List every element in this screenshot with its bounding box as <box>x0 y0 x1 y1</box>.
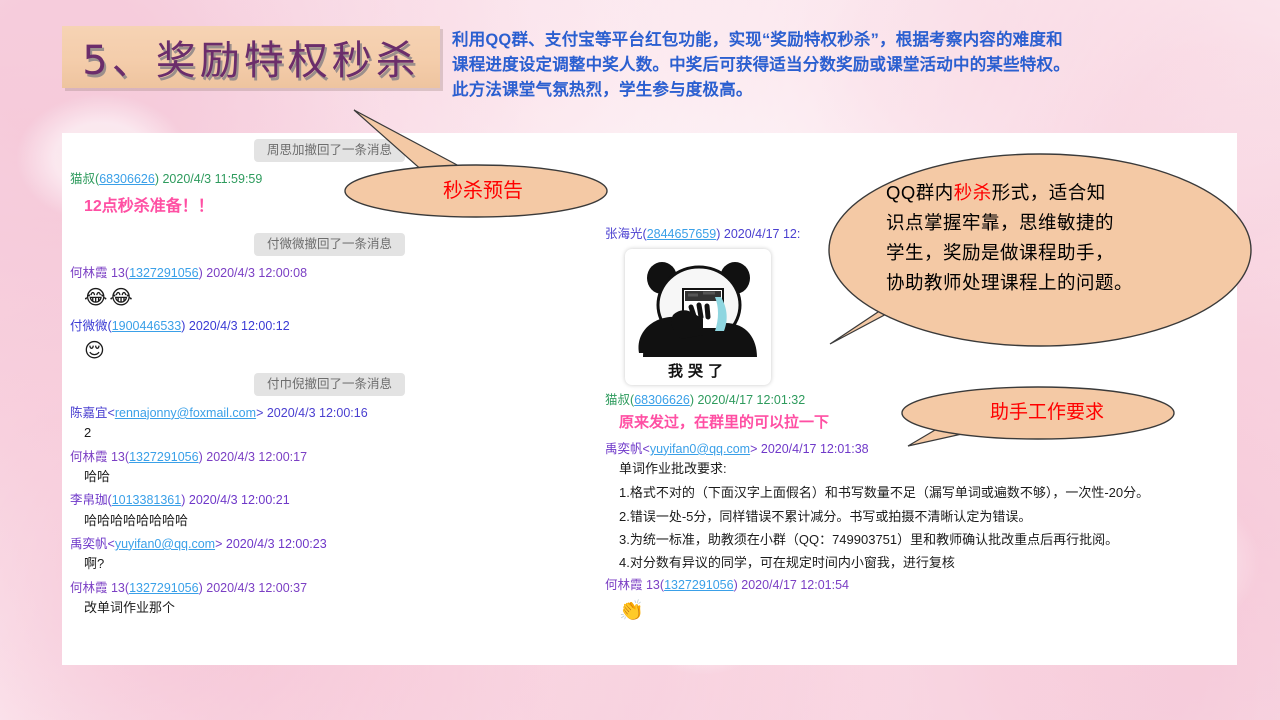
message-body: 啊? <box>62 553 597 576</box>
message-body: 哈哈 <box>62 466 597 489</box>
sender-name: 禹奕帆 <box>605 442 643 456</box>
sender-name: 禹奕帆 <box>70 537 108 551</box>
sender-name: 何林霞 13 <box>70 450 125 464</box>
bracket-close: ) <box>199 266 203 280</box>
message-header: 何林霞 13(1327291056) 2020/4/17 12:01:54 <box>597 575 1237 595</box>
bracket-close: ) <box>734 578 738 592</box>
message-body: 单词作业批改要求: <box>597 458 1237 481</box>
chat-message: 陈嘉宜<rennajonny@foxmail.com> 2020/4/3 12:… <box>62 402 597 446</box>
bracket-close: ) <box>690 393 694 407</box>
message-header: 何林霞 13(1327291056) 2020/4/3 12:00:17 <box>62 447 597 467</box>
sender-name: 付微微 <box>70 319 108 333</box>
callout-highlight: 秒杀 <box>954 182 992 203</box>
bracket-open: < <box>108 406 115 420</box>
message-time: 2020/4/3 12:00:16 <box>267 406 368 420</box>
callout-seckill-preview: 秒杀预告 <box>342 160 610 222</box>
message-time: 2020/4/3 12:00:23 <box>226 537 327 551</box>
sender-id[interactable]: 1327291056 <box>129 450 199 464</box>
system-message: 周思加撤回了一条消息 <box>62 139 597 162</box>
sender-name: 何林霞 13 <box>70 581 125 595</box>
chat-message: 何林霞 13(1327291056) 2020/4/3 12:00:37 改单词… <box>62 577 597 621</box>
header-line-3: 此方法课堂气氛热烈，学生参与度极高。 <box>452 78 1252 103</box>
message-header: 禹奕帆<yuyifan0@qq.com> 2020/4/3 12:00:23 <box>62 534 597 554</box>
requirement-item: 3.为统一标准，助教须在小群（QQ：749903751）里和教师确认批改重点后再… <box>597 528 1237 551</box>
message-time: 2020/4/3 12:00:37 <box>206 581 307 595</box>
sender-id[interactable]: 2844657659 <box>647 227 717 241</box>
bracket-close: > <box>256 406 263 420</box>
message-time: 2020/4/17 12: <box>724 227 800 241</box>
chat-message: 何林霞 13(1327291056) 2020/4/3 12:00:08 😂😂 <box>62 262 597 315</box>
header-description: 利用QQ群、支付宝等平台红包功能，实现“奖励特权秒杀”，根据考察内容的难度和 课… <box>452 28 1252 103</box>
bracket-close: > <box>215 537 222 551</box>
sender-id[interactable]: 1327291056 <box>129 581 199 595</box>
sender-name: 猫叔 <box>70 172 95 186</box>
message-body-emoji: 👏 <box>597 595 1237 627</box>
chat-message: 禹奕帆<yuyifan0@qq.com> 2020/4/17 12:01:38 … <box>597 438 1237 574</box>
chat-message: 何林霞 13(1327291056) 2020/4/3 12:00:17 哈哈 <box>62 446 597 490</box>
requirement-item: 1.格式不对的（下面汉字上面假名）和书写数量不足（漏写单词或遍数不够），一次性-… <box>597 481 1237 504</box>
message-time: 2020/4/3 11:59:59 <box>162 172 262 186</box>
crying-panda-icon <box>629 253 767 361</box>
message-body-emoji: 😌 <box>62 335 597 367</box>
sender-name: 张海光 <box>605 227 643 241</box>
sender-id[interactable]: 68306626 <box>99 172 155 186</box>
callout-line-3: 学生，奖励是做课程助手， <box>886 238 1216 268</box>
system-message: 付微微撤回了一条消息 <box>62 233 597 256</box>
system-message-text: 付巾倪撤回了一条消息 <box>254 373 405 396</box>
chat-message: 李帛珈(1013381361) 2020/4/3 12:00:21 哈哈哈哈哈哈… <box>62 489 597 533</box>
bracket-close: ) <box>155 172 159 186</box>
sender-id[interactable]: 68306626 <box>634 393 690 407</box>
bracket-close: ) <box>199 581 203 595</box>
system-message-text: 周思加撤回了一条消息 <box>254 139 405 162</box>
callout-assistant-requirements: 助手工作要求 <box>900 384 1180 446</box>
callout-text-a: QQ群内 <box>886 182 954 203</box>
message-header: 李帛珈(1013381361) 2020/4/3 12:00:21 <box>62 490 597 510</box>
bracket-close: > <box>750 442 757 456</box>
sender-id[interactable]: 1013381361 <box>112 493 182 507</box>
callout-line-2: 识点掌握牢靠，思维敏捷的 <box>886 208 1216 238</box>
sender-id[interactable]: 1900446533 <box>112 319 182 333</box>
bracket-open: < <box>643 442 650 456</box>
panda-sticker[interactable]: 我哭了 <box>625 249 771 385</box>
message-body: 2 <box>62 422 597 445</box>
message-time: 2020/4/17 12:01:54 <box>741 578 849 592</box>
message-header: 何林霞 13(1327291056) 2020/4/3 12:00:08 <box>62 263 597 283</box>
sender-name: 猫叔 <box>605 393 630 407</box>
message-header: 陈嘉宜<rennajonny@foxmail.com> 2020/4/3 12:… <box>62 403 597 423</box>
system-message: 付巾倪撤回了一条消息 <box>62 373 597 396</box>
message-time: 2020/4/3 12:00:12 <box>189 319 290 333</box>
sender-email[interactable]: yuyifan0@qq.com <box>115 537 215 551</box>
message-body: 改单词作业那个 <box>62 597 597 620</box>
callout-line-4: 协助教师处理课程上的问题。 <box>886 268 1216 298</box>
sender-id[interactable]: 1327291056 <box>129 266 199 280</box>
message-body-emoji: 😂😂 <box>62 282 597 314</box>
callout-line-1: QQ群内秒杀形式，适合知 <box>886 178 1216 208</box>
message-time: 2020/4/3 12:00:21 <box>189 493 290 507</box>
page-title: 5、奖励特权秒杀 <box>82 28 419 86</box>
bracket-close: ) <box>181 493 185 507</box>
message-time: 2020/4/17 12:01:32 <box>697 393 805 407</box>
header-line-1: 利用QQ群、支付宝等平台红包功能，实现“奖励特权秒杀”，根据考察内容的难度和 <box>452 28 1252 53</box>
callout-text-b: 形式，适合知 <box>992 182 1106 203</box>
bracket-close: ) <box>199 450 203 464</box>
bracket-close: ) <box>181 319 185 333</box>
message-time: 2020/4/17 12:01:38 <box>761 442 869 456</box>
bracket-close: ) <box>716 227 720 241</box>
callout-label: 秒杀预告 <box>388 174 578 203</box>
message-body: 哈哈哈哈哈哈哈哈 <box>62 510 597 533</box>
message-time: 2020/4/3 12:00:08 <box>206 266 307 280</box>
bracket-open: < <box>108 537 115 551</box>
requirement-item: 4.对分数有异议的同学，可在规定时间内小窗我，进行复核 <box>597 551 1237 574</box>
sender-email[interactable]: yuyifan0@qq.com <box>650 442 750 456</box>
sender-name: 李帛珈 <box>70 493 108 507</box>
sender-id[interactable]: 1327291056 <box>664 578 734 592</box>
sender-name: 何林霞 13 <box>605 578 660 592</box>
header-line-2: 课程进度设定调整中奖人数。中奖后可获得适当分数奖励或课堂活动中的某些特权。 <box>452 53 1252 78</box>
slide-title-banner: 5、奖励特权秒杀 <box>62 26 440 88</box>
callout-label: 助手工作要求 <box>952 397 1142 424</box>
sender-email[interactable]: rennajonny@foxmail.com <box>115 406 256 420</box>
callout-seckill-description: QQ群内秒杀形式，适合知 识点掌握牢靠，思维敏捷的 学生，奖励是做课程助手， 协… <box>828 152 1252 352</box>
sender-name: 陈嘉宜 <box>70 406 108 420</box>
chat-message: 付微微(1900446533) 2020/4/3 12:00:12 😌 <box>62 315 597 368</box>
message-header: 何林霞 13(1327291056) 2020/4/3 12:00:37 <box>62 578 597 598</box>
requirement-item: 2.错误一处-5分，同样错误不累计减分。书写或拍摄不清晰认定为错误。 <box>597 505 1237 528</box>
callout-body: QQ群内秒杀形式，适合知 识点掌握牢靠，思维敏捷的 学生，奖励是做课程助手， 协… <box>886 178 1216 298</box>
sender-name: 何林霞 13 <box>70 266 125 280</box>
message-header: 付微微(1900446533) 2020/4/3 12:00:12 <box>62 316 597 336</box>
message-time: 2020/4/3 12:00:17 <box>206 450 307 464</box>
sticker-caption: 我哭了 <box>668 362 728 382</box>
chat-message: 禹奕帆<yuyifan0@qq.com> 2020/4/3 12:00:23 啊… <box>62 533 597 577</box>
system-message-text: 付微微撤回了一条消息 <box>254 233 405 256</box>
chat-message: 何林霞 13(1327291056) 2020/4/17 12:01:54 👏 <box>597 574 1237 627</box>
